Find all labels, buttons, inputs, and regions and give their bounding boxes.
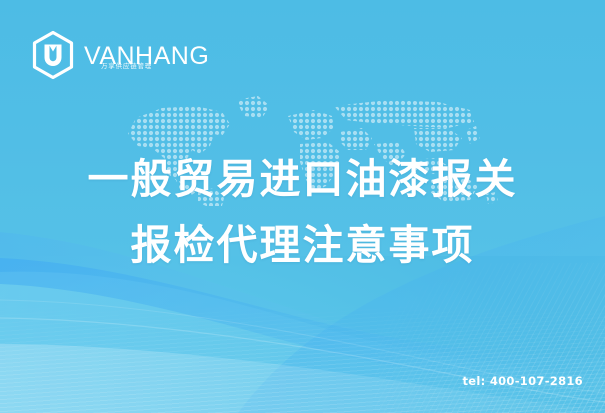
promo-banner: VANHANG 万享供应链管理 一般贸易进口油漆报关 报检代理注意事项 tel:… <box>0 0 605 413</box>
hexagon-u-logo-icon <box>30 30 76 80</box>
brand-wordmark: VANHANG 万享供应链管理 <box>84 42 209 69</box>
brand-subtitle-text: 万享供应链管理 <box>101 64 152 71</box>
contact-phone[interactable]: tel: 400-107-2816 <box>462 374 583 388</box>
page-title-line-2: 报检代理注意事项 <box>0 212 605 278</box>
brand-logo[interactable]: VANHANG 万享供应链管理 <box>30 30 209 80</box>
page-title: 一般贸易进口油漆报关 报检代理注意事项 <box>0 146 605 278</box>
page-title-line-1: 一般贸易进口油漆报关 <box>0 146 605 212</box>
